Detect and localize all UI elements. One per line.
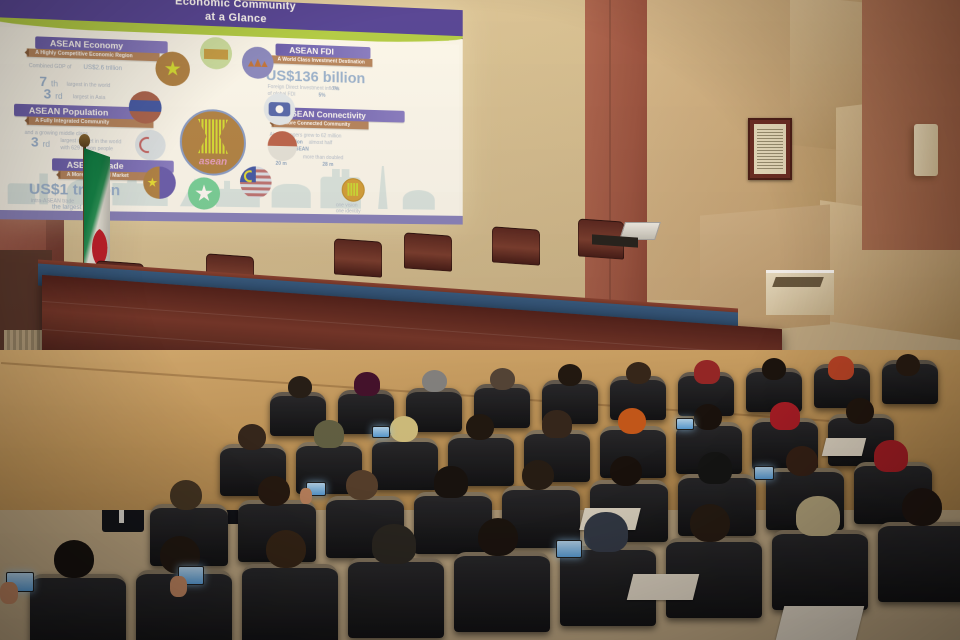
- flag-finial-icon: [79, 134, 90, 147]
- flag-circle-laos: [264, 93, 295, 126]
- panel-chair-5[interactable]: [492, 226, 540, 265]
- slide-body: ASEAN Economy A Highly Competitive Econo…: [0, 27, 459, 219]
- newspaper: [776, 606, 864, 640]
- auditorium-screenshot: Economic Community at a Glance: [0, 0, 960, 640]
- population-rank-num: 3: [31, 134, 39, 150]
- hand: [300, 488, 312, 504]
- hand: [0, 582, 18, 604]
- panel-chair-4[interactable]: [404, 232, 452, 271]
- conn-detail-3: almost half: [309, 140, 332, 146]
- asean-emblem: asean: [180, 108, 246, 176]
- smartphone-screen[interactable]: [676, 418, 694, 430]
- lectern: [766, 270, 834, 315]
- wall-speaker-icon: [914, 124, 938, 176]
- projection-screen: Economic Community at a Glance: [0, 0, 463, 225]
- flag-circle-malaysia: [240, 166, 272, 198]
- asean-emblem-label: asean: [182, 156, 244, 168]
- handout-paper: [627, 574, 699, 600]
- panel-chair-3[interactable]: [334, 238, 382, 277]
- conn-detail-6: 20 m: [276, 161, 287, 167]
- economy-stat: US$2.6 trillion: [83, 65, 122, 72]
- economy-rank2-text: largest in Asia: [73, 94, 105, 101]
- fdi-detail-2: 7%: [332, 86, 339, 92]
- wall-wood-panel-center: [585, 0, 647, 308]
- economy-rank1-ord: th: [51, 79, 58, 88]
- flag-circle-thailand: [129, 91, 162, 124]
- smartphone-screen[interactable]: [754, 466, 774, 480]
- flag-circle-brunei: [200, 37, 232, 70]
- flag-circle-singapore: [135, 129, 166, 160]
- hand: [170, 576, 187, 597]
- asean-rice-stalks-icon: [198, 119, 228, 154]
- population-rank-ord: rd: [43, 140, 50, 149]
- economy-lead: Combined GDP of: [29, 63, 72, 71]
- flag-circle-cambodia: [242, 46, 274, 79]
- smartphone-screen[interactable]: [372, 426, 390, 438]
- framed-certificate: [748, 118, 792, 180]
- flag-circle-vietnam: [155, 51, 189, 86]
- asean-mini-logo-icon: [342, 178, 365, 202]
- conn-detail-7: 28 m: [322, 162, 333, 168]
- economy-rank2-ord: rd: [55, 92, 62, 101]
- fdi-detail-4: 5%: [319, 93, 326, 99]
- flag-circle-indonesia: [268, 131, 297, 161]
- economy-rank1-text: largest in the world: [67, 82, 111, 89]
- flag-circle-myanmar: [188, 177, 220, 210]
- room: Economic Community at a Glance: [0, 0, 960, 640]
- wall-wood-panel-right: [862, 0, 960, 250]
- flag-circle-philippines: [143, 166, 176, 199]
- audience-area: [0, 330, 960, 640]
- smartphone-screen[interactable]: [556, 540, 582, 558]
- economy-rank2-num: 3: [44, 86, 52, 102]
- conn-detail-5: more than doubled: [303, 154, 343, 161]
- handout-paper: [822, 438, 866, 456]
